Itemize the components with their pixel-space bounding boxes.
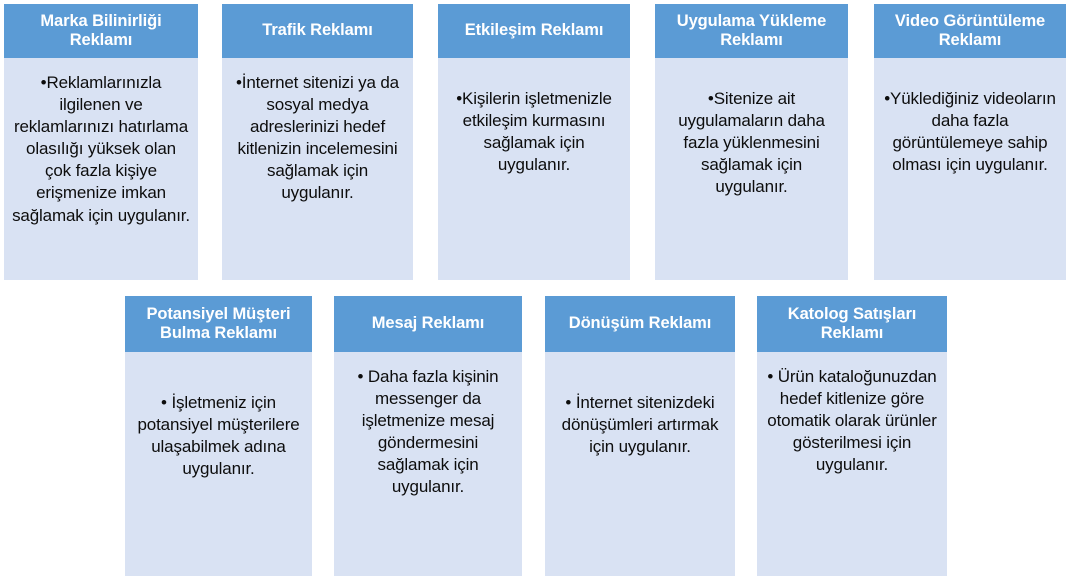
card-header-title: Katolog Satışları Reklamı (757, 296, 947, 352)
card-body: • Ürün kataloğunuzdan hedef kitlenize gö… (757, 352, 947, 576)
card-trafik[interactable]: Trafik Reklamı •İnternet sitenizi ya da … (222, 4, 413, 280)
card-potansiyel-musteri-bulma[interactable]: Potansiyel Müşteri Bulma Reklamı • İşlet… (125, 296, 312, 576)
card-header-title: Trafik Reklamı (222, 4, 413, 58)
card-body: •Yüklediğiniz videoların daha fazla görü… (874, 58, 1066, 280)
card-body: • İnternet sitenizdeki dönüşümleri artır… (545, 352, 735, 576)
card-marka-bilinirligi[interactable]: Marka Bilinirliği Reklamı •Reklamlarınız… (4, 4, 198, 280)
bullet-dot: • (565, 392, 571, 414)
bullet-dot: • (161, 392, 167, 414)
card-header-title: Uygulama Yükleme Reklamı (655, 4, 848, 58)
bullet-text: Kişilerin işletmenizle etkileşim kurması… (462, 89, 612, 174)
card-body: •İnternet sitenizi ya da sosyal medya ad… (222, 58, 413, 280)
card-etkilesim[interactable]: Etkileşim Reklamı •Kişilerin işletmenizl… (438, 4, 630, 280)
bullet-text: Daha fazla kişinin messenger da işletmen… (362, 367, 499, 496)
card-video-goruntuleme[interactable]: Video Görüntüleme Reklamı •Yüklediğiniz … (874, 4, 1066, 280)
bullet-text: Sitenize ait uygulamaların daha fazla yü… (678, 89, 825, 196)
bullet-item: • Daha fazla kişinin messenger da işletm… (342, 366, 514, 499)
card-header-title: Video Görüntüleme Reklamı (874, 4, 1066, 58)
bullet-item: •İnternet sitenizi ya da sosyal medya ad… (230, 72, 405, 205)
bullet-text: Ürün kataloğunuzdan hedef kitlenize göre… (767, 367, 936, 474)
card-header-title: Dönüşüm Reklamı (545, 296, 735, 352)
bullet-dot: • (767, 366, 773, 388)
card-header-title: Mesaj Reklamı (334, 296, 522, 352)
bullet-item: • İnternet sitenizdeki dönüşümleri artır… (553, 392, 727, 458)
card-katolog-satislari[interactable]: Katolog Satışları Reklamı • Ürün kataloğ… (757, 296, 947, 576)
bullet-item: •Sitenize ait uygulamaların daha fazla y… (663, 88, 840, 198)
card-body: •Kişilerin işletmenizle etkileşim kurmas… (438, 58, 630, 280)
card-header-title: Marka Bilinirliği Reklamı (4, 4, 198, 58)
bullet-item: • Ürün kataloğunuzdan hedef kitlenize gö… (765, 366, 939, 476)
bullet-item: •Reklamlarınızla ilgilenen ve reklamları… (12, 72, 190, 227)
card-uygulama-yukleme[interactable]: Uygulama Yükleme Reklamı •Sitenize ait u… (655, 4, 848, 280)
bullet-text: Yüklediğiniz videoların daha fazla görün… (890, 89, 1056, 174)
bullet-dot: • (358, 366, 364, 388)
bullet-text: İnternet sitenizdeki dönüşümleri artırma… (562, 393, 719, 456)
card-body: •Reklamlarınızla ilgilenen ve reklamları… (4, 58, 198, 280)
bullet-item: • İşletmeniz için potansiyel müşterilere… (133, 392, 304, 480)
card-mesaj[interactable]: Mesaj Reklamı • Daha fazla kişinin messe… (334, 296, 522, 576)
diagram-canvas: Marka Bilinirliği Reklamı •Reklamlarınız… (0, 0, 1070, 587)
card-donusum[interactable]: Dönüşüm Reklamı • İnternet sitenizdeki d… (545, 296, 735, 576)
bullet-item: •Kişilerin işletmenizle etkileşim kurmas… (446, 88, 622, 176)
bullet-text: İnternet sitenizi ya da sosyal medya adr… (237, 73, 399, 202)
card-body: •Sitenize ait uygulamaların daha fazla y… (655, 58, 848, 280)
bullet-text: Reklamlarınızla ilgilenen ve reklamların… (12, 73, 190, 225)
card-header-title: Potansiyel Müşteri Bulma Reklamı (125, 296, 312, 352)
card-body: • İşletmeniz için potansiyel müşterilere… (125, 352, 312, 576)
card-body: • Daha fazla kişinin messenger da işletm… (334, 352, 522, 576)
bullet-item: •Yüklediğiniz videoların daha fazla görü… (882, 88, 1058, 176)
card-header-title: Etkileşim Reklamı (438, 4, 630, 58)
